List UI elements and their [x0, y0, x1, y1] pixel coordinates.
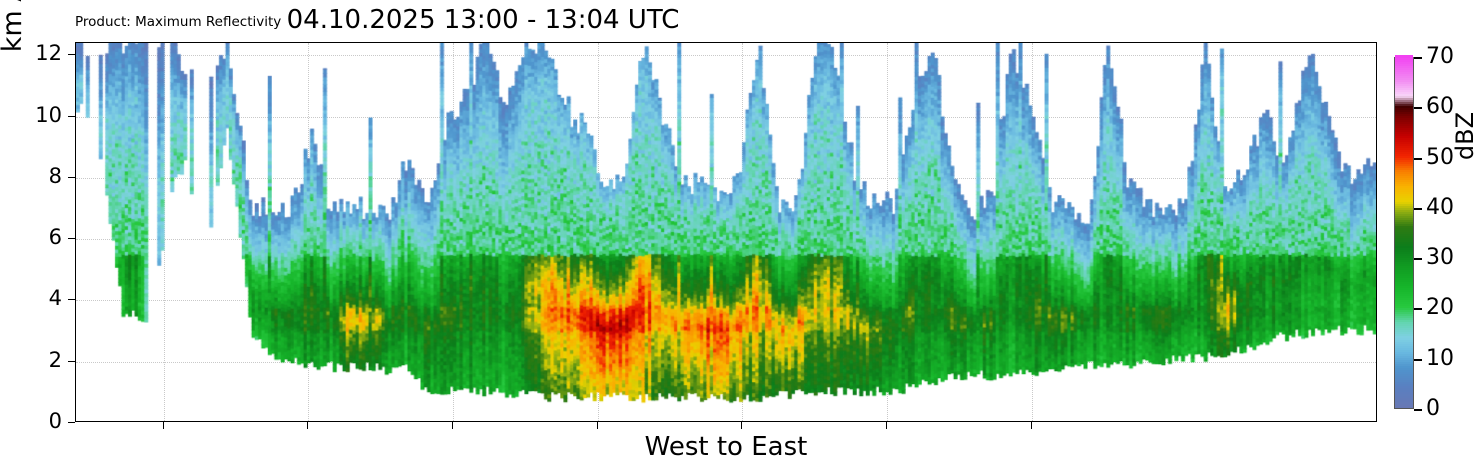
y-tick-label: 8 [0, 166, 62, 187]
y-tick-mark [68, 177, 75, 178]
colorbar [1394, 57, 1414, 409]
x-tick-mark [741, 422, 742, 429]
colorbar-tick-label: 10 [1426, 348, 1454, 370]
colorbar-tick-label: 50 [1426, 147, 1454, 169]
y-tick-mark [68, 54, 75, 55]
colorbar-tick-mark [1414, 57, 1422, 59]
x-tick-mark [886, 422, 887, 429]
colorbar-tick-label: 70 [1426, 46, 1454, 68]
colorbar-tick-mark [1414, 359, 1422, 361]
y-tick-mark [68, 422, 75, 423]
plot-area [75, 42, 1377, 422]
y-tick-mark [68, 116, 75, 117]
colorbar-gradient [1394, 57, 1414, 409]
y-tick-label: 0 [0, 411, 62, 432]
colorbar-tick-mark [1414, 409, 1422, 411]
x-axis-label: West to East [75, 432, 1377, 462]
colorbar-label: dBZ [1452, 76, 1478, 196]
x-tick-mark [597, 422, 598, 429]
y-tick-label: 4 [0, 288, 62, 309]
colorbar-tick-label: 0 [1426, 398, 1440, 420]
colorbar-tick-mark [1414, 308, 1422, 310]
colorbar-tick-mark [1414, 107, 1422, 109]
y-tick-label: 2 [0, 350, 62, 371]
x-tick-mark [1031, 422, 1032, 429]
colorbar-tick-label: 20 [1426, 297, 1454, 319]
y-tick-label: 12 [0, 43, 62, 64]
y-tick-label: 10 [0, 105, 62, 126]
reflectivity-heatmap [76, 43, 1376, 421]
colorbar-tick-label: 40 [1426, 197, 1454, 219]
y-tick-mark [68, 361, 75, 362]
colorbar-tick-mark [1414, 208, 1422, 210]
colorbar-tick-mark [1414, 258, 1422, 260]
colorbar-tick-mark [1414, 158, 1422, 160]
y-tick-mark [68, 238, 75, 239]
page-title-text: 04.10.2025 13:00 - 13:04 UTC [287, 5, 680, 35]
colorbar-tick-label: 60 [1426, 96, 1454, 118]
x-tick-mark [163, 422, 164, 429]
x-tick-mark [307, 422, 308, 429]
figure-canvas: Product: Maximum Reflectivity 04.10.2025… [0, 0, 1482, 470]
colorbar-tick-label: 30 [1426, 247, 1454, 269]
x-tick-mark [452, 422, 453, 429]
colorbar-segment [1395, 55, 1413, 58]
page-title: 04.10.2025 13:00 - 13:04 UTC [0, 5, 1482, 35]
y-tick-label: 6 [0, 227, 62, 248]
y-tick-mark [68, 299, 75, 300]
